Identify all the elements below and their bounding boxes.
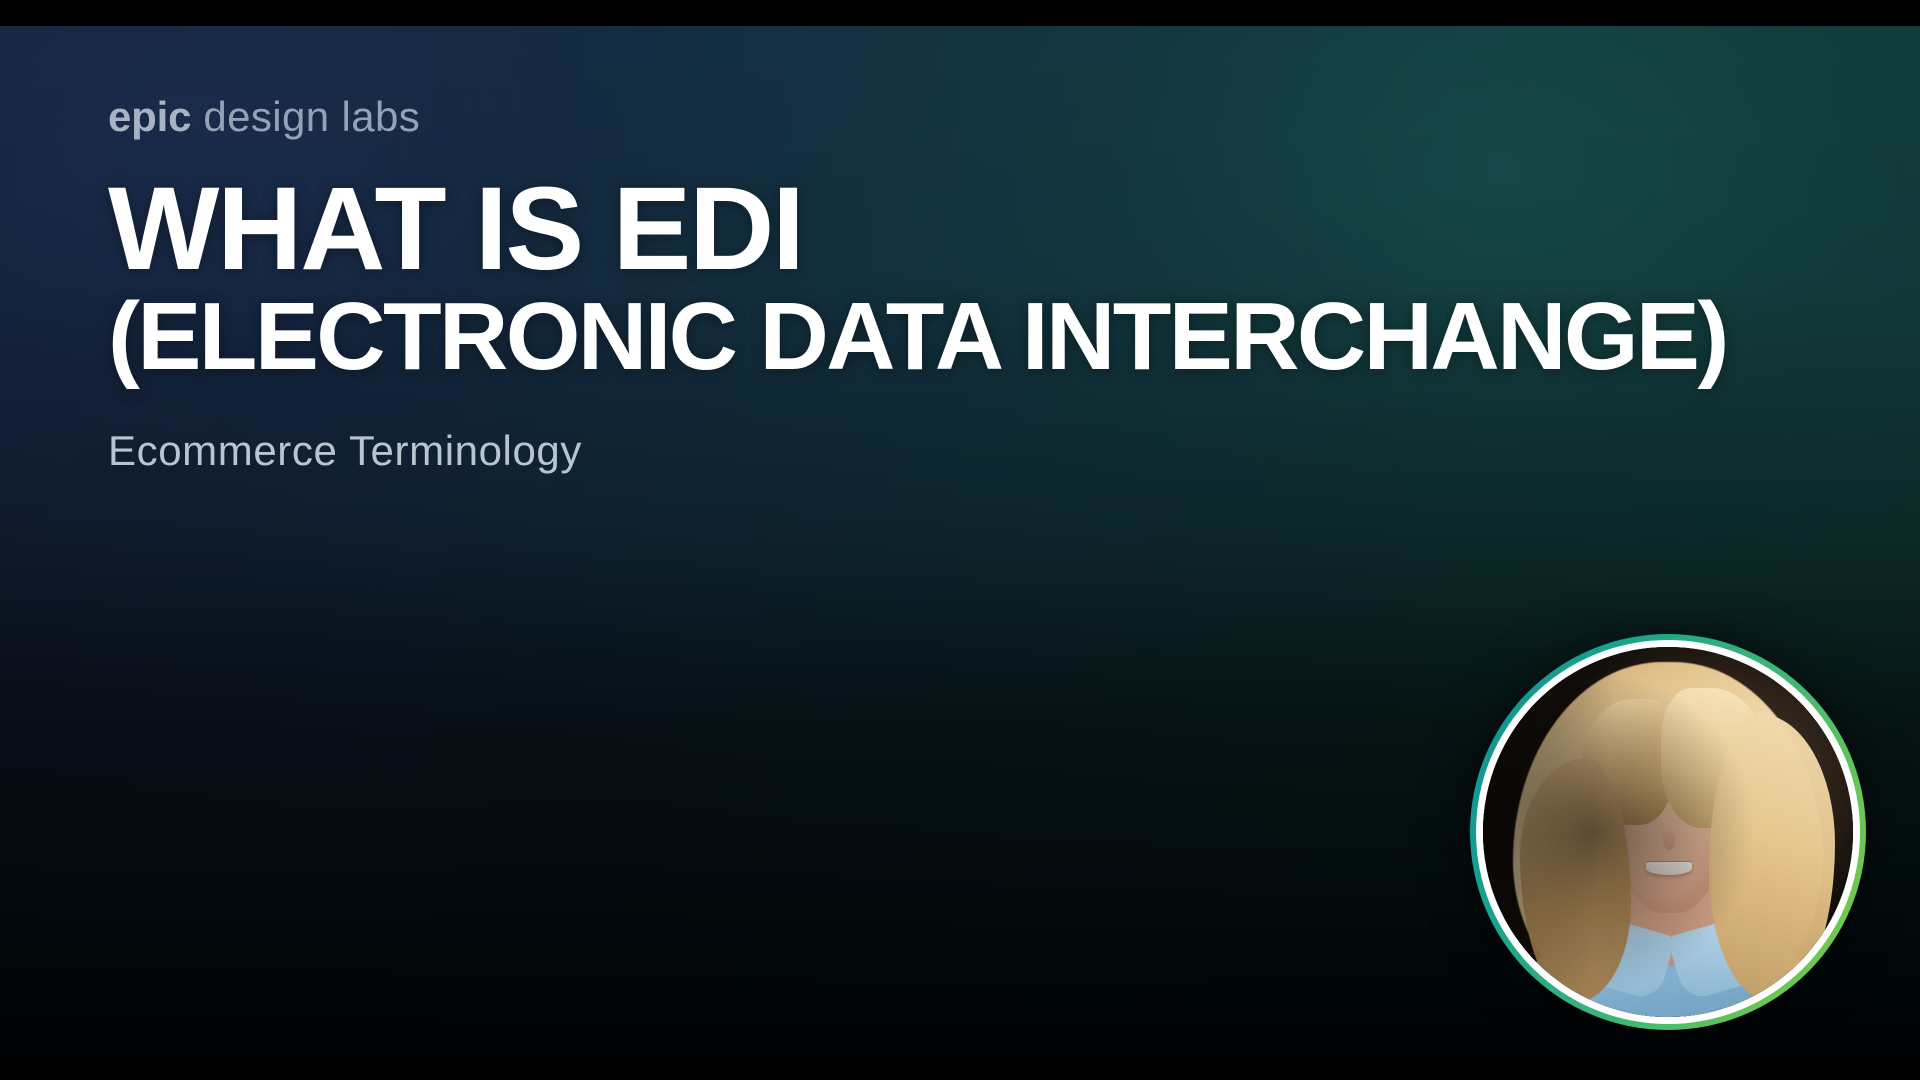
page-title-line-1: WHAT IS EDI [108, 172, 1808, 288]
brand-logo-light-words: design labs [191, 93, 420, 140]
page-title-line-2: (ELECTRONIC DATA INTERCHANGE) [108, 290, 1808, 384]
brand-logo-bold-word: epic [108, 93, 191, 140]
avatar-photo [1483, 647, 1853, 1017]
portrait-mouth [1646, 862, 1692, 875]
letterbox-bar-bottom [0, 1058, 1920, 1080]
slide-content: epic design labs WHAT IS EDI (ELECTRONIC… [108, 96, 1808, 474]
letterbox-bar-top [0, 0, 1920, 26]
avatar [1470, 634, 1866, 1030]
avatar-white-ring [1476, 640, 1860, 1024]
slide-stage: epic design labs WHAT IS EDI (ELECTRONIC… [0, 0, 1920, 1080]
page-title: WHAT IS EDI (ELECTRONIC DATA INTERCHANGE… [108, 172, 1808, 384]
brand-logo: epic design labs [108, 96, 1808, 138]
page-subtitle: Ecommerce Terminology [108, 428, 1808, 474]
